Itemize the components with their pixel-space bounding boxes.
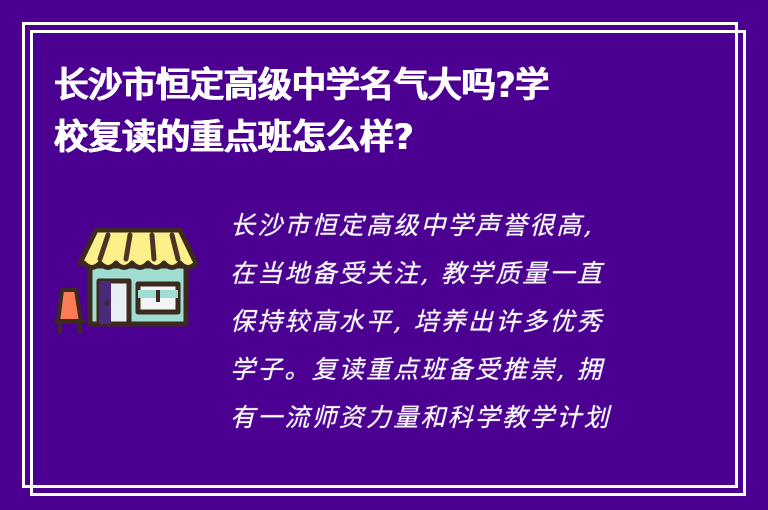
body-line-3: 保持较高水平, 培养出许多优秀 bbox=[230, 298, 704, 346]
body-line-1: 长沙市恒定高级中学声誉很高, bbox=[230, 202, 704, 250]
illustration-column bbox=[54, 200, 214, 343]
poster-canvas: 长沙市恒定高级中学名气大吗?学 校复读的重点班怎么样? bbox=[0, 0, 768, 510]
content-row: 长沙市恒定高级中学声誉很高, 在当地备受关注, 教学质量一直 保持较高水平, 培… bbox=[54, 200, 704, 442]
frame-mask-bottom bbox=[0, 498, 768, 510]
title-block: 长沙市恒定高级中学名气大吗?学 校复读的重点班怎么样? bbox=[54, 60, 694, 164]
body-line-2: 在当地备受关注, 教学质量一直 bbox=[230, 250, 704, 298]
body-line-4: 学子。复读重点班备受推崇, 拥 bbox=[230, 346, 704, 394]
shop-door bbox=[99, 281, 129, 324]
body-text-column: 长沙市恒定高级中学声誉很高, 在当地备受关注, 教学质量一直 保持较高水平, 培… bbox=[214, 200, 704, 442]
title-line-1: 长沙市恒定高级中学名气大吗?学 bbox=[54, 60, 675, 112]
title-line-2: 校复读的重点班怎么样? bbox=[54, 112, 675, 164]
body-line-5: 有一流师资力量和科学教学计划 bbox=[230, 394, 704, 442]
storefront-icon bbox=[54, 218, 204, 343]
shop-awning bbox=[80, 230, 196, 268]
frame-mask-right bbox=[746, 0, 768, 510]
sandwich-board-sign bbox=[56, 290, 84, 332]
shop-window bbox=[138, 284, 178, 312]
